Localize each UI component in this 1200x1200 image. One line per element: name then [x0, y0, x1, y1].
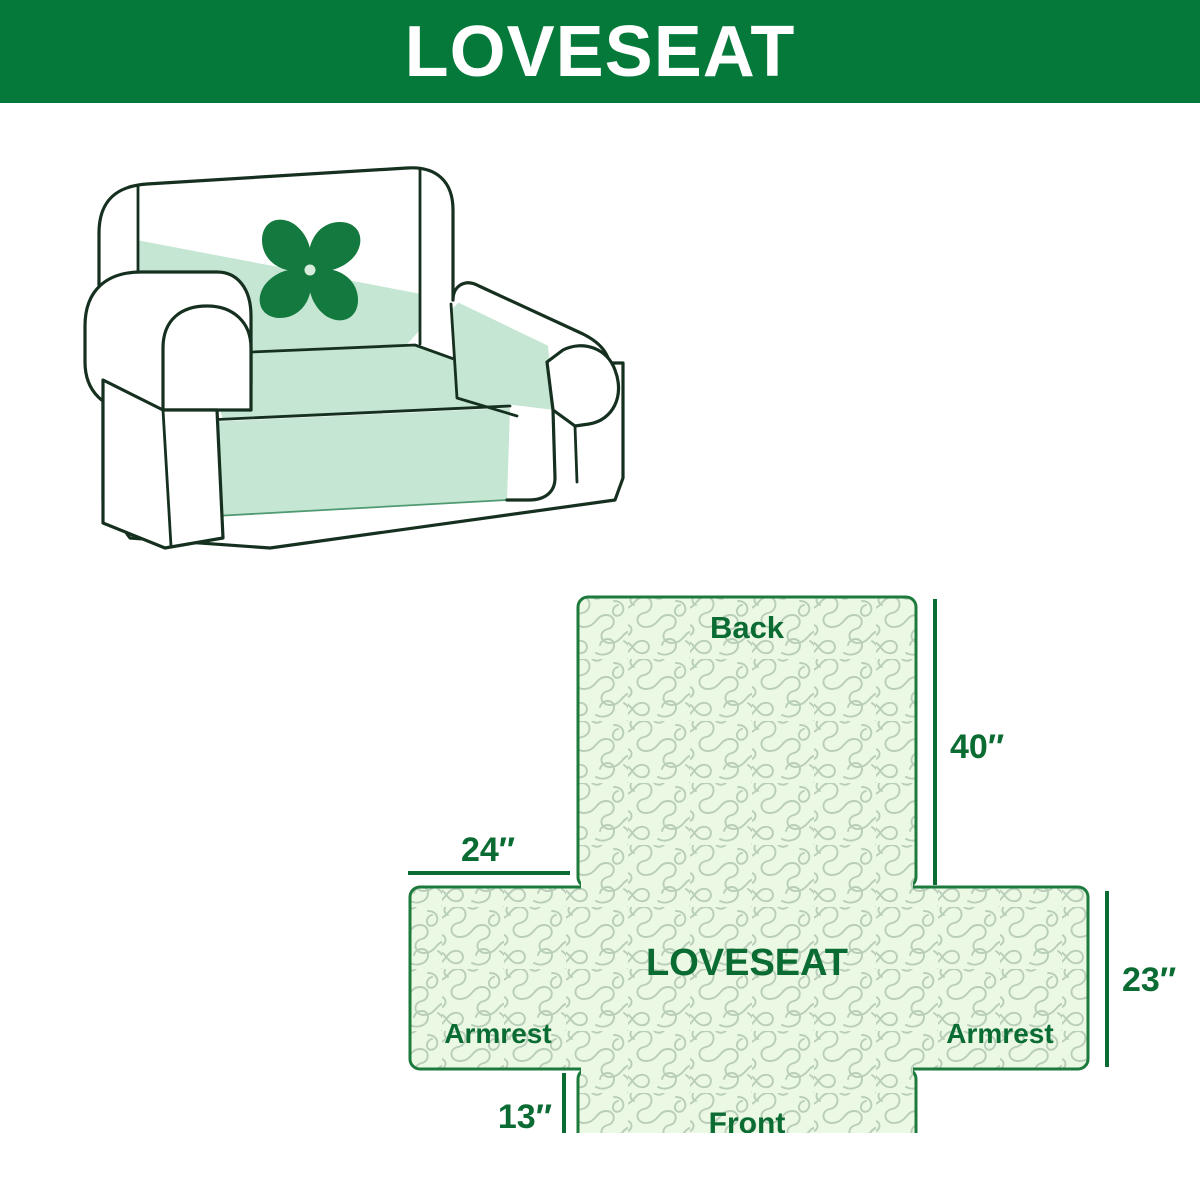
dimension-label-back-height: 40″	[950, 728, 1004, 766]
dimension-label-front-height: 13″	[498, 1098, 552, 1133]
label-front: Front	[709, 1107, 786, 1133]
sofa-left-arm-inner-roll	[163, 306, 251, 410]
dimension-label-armrest-width: 24″	[461, 831, 515, 869]
sofa-right-arm-outer-roll	[547, 346, 619, 426]
seam-back-band	[581, 881, 913, 895]
label-back: Back	[710, 610, 785, 645]
page-title: LOVESEAT	[405, 16, 796, 88]
label-armrest-left: Armrest	[444, 1018, 551, 1049]
header-banner: LOVESEAT	[0, 0, 1200, 103]
content-stage: .body-line { fill:#ffffff; stroke:#16301…	[0, 103, 1200, 1200]
dimension-label-center-height: 23″	[1122, 961, 1176, 999]
pinwheel-hub	[305, 265, 316, 276]
cover-pattern-diagram: .panel { fill: url(#quiltPattern); strok…	[380, 473, 1200, 1133]
label-center-loveseat: LOVESEAT	[646, 942, 848, 984]
seam-band-front	[581, 1063, 913, 1077]
label-armrest-right: Armrest	[946, 1018, 1053, 1049]
